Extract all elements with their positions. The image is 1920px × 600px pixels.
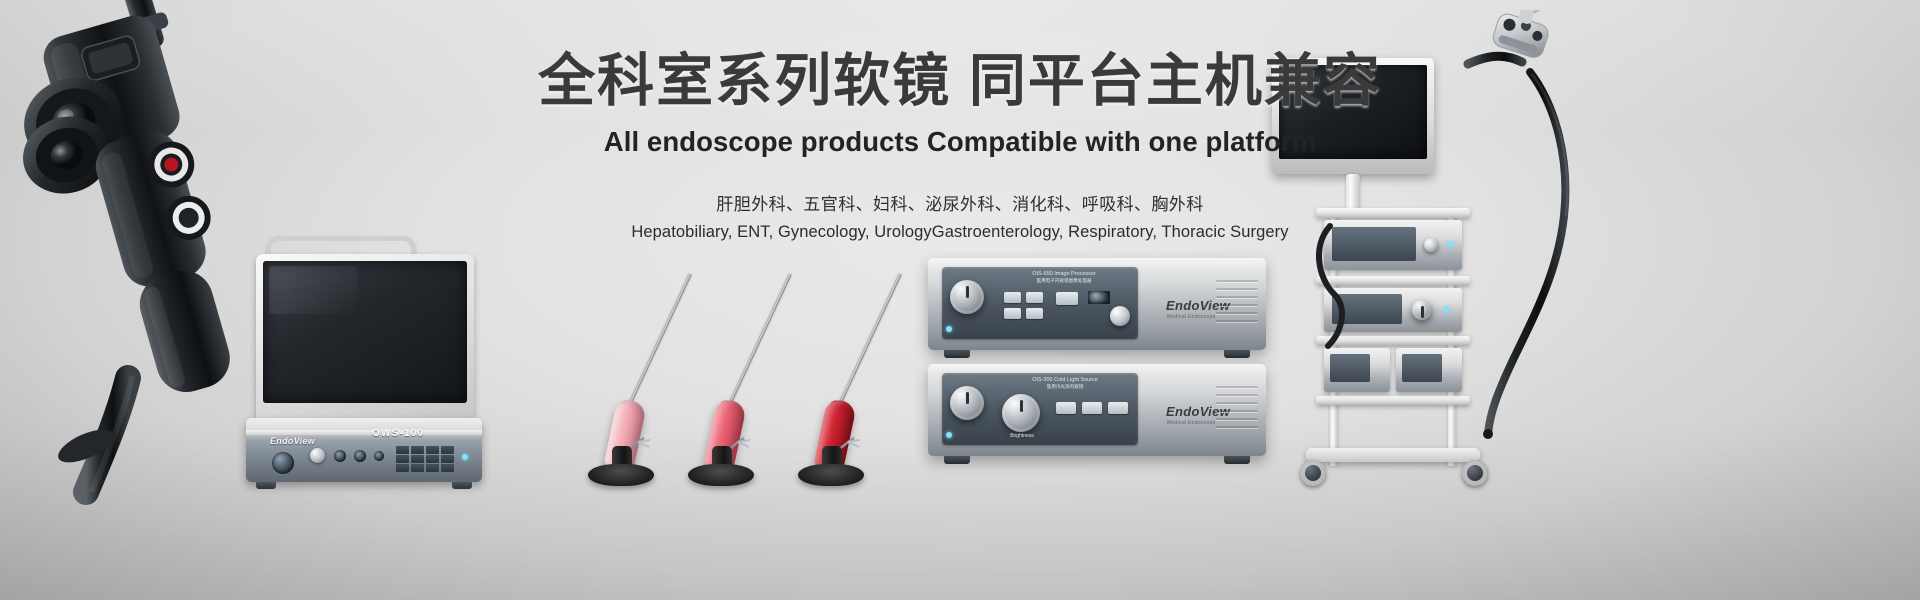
unit-knob-label: Brightness [1000,433,1044,439]
workstation-port-1 [334,450,346,462]
unit-foot-right [1224,350,1250,358]
unit-button-menu[interactable] [1004,292,1021,303]
workstation-port-3 [374,451,384,461]
cart-device-brightness-knob[interactable] [1412,300,1432,320]
unit-brand-sublabel: Medical Endoscope [1167,420,1216,426]
unit-front-face: OIS-650 Image Processor 医用电子内窥镜图像处理器 End… [928,258,1266,350]
unit-panel-title-zh: 医用电子内窥镜图像处理器 [998,278,1130,285]
banner-subheadline-en: All endoscope products Compatible with o… [0,126,1920,158]
banner-departments-zh: 肝胆外科、五官科、妇科、泌尿外科、消化科、呼吸科、胸外科 [0,190,1920,215]
banner-departments-en: Hepatobiliary, ENT, Gynecology, UrologyG… [0,223,1920,242]
banner-root: EndoView OWS-100 [0,0,1920,600]
unit-panel-title: OIS-650 Image Processor 医用电子内窥镜图像处理器 [998,270,1130,285]
cart-device-insufflator [1324,348,1390,392]
workstation-display-screen [263,261,467,403]
banner-text-block: 全科室系列软镜 同平台主机兼容 All endoscope products C… [0,48,1920,242]
endoview-cold-light-source-unit: OIS-300 Cold Light Source 医用冷光源内窥镜 Brigh… [928,364,1266,456]
unit-panel-title-en: OIS-650 Image Processor [1032,271,1096,277]
scope-stand-base [798,464,864,486]
unit-button-manual[interactable] [1082,402,1102,414]
cart-device-panel [1330,354,1370,382]
unit-status-led [946,326,952,332]
unit-panel-title-en: OIS-300 Cold Light Source [1032,377,1098,383]
unit-adjust-knob[interactable] [1110,306,1130,326]
endoview-image-processor-unit: OIS-650 Image Processor 医用电子内窥镜图像处理器 End… [928,258,1266,350]
base-trim-strip [246,430,482,435]
cart-base-plate [1306,448,1480,462]
unit-button-freeze[interactable] [1056,292,1078,305]
unit-button-pump[interactable] [1108,402,1128,414]
unit-button-auto[interactable] [1056,402,1076,414]
flexible-scope-red [710,250,890,495]
unit-panel-title-zh: 医用冷光源内窥镜 [1000,384,1130,391]
workstation-brand-label: EndoView [270,436,315,446]
workstation-base: EndoView [246,418,482,482]
unit-vent-grille [1216,384,1258,436]
workstation-scope-connector [272,452,294,474]
unit-vent-grille [1216,278,1258,330]
unit-scope-connector[interactable] [950,280,984,314]
workstation-feet [246,482,482,489]
unit-light-output-port[interactable] [950,386,984,420]
unit-foot-right [1224,456,1250,464]
unit-button-wb[interactable] [1026,292,1043,303]
ows-100-workstation: EndoView OWS-100 [232,236,482,488]
unit-foot-left [944,350,970,358]
unit-brand-sublabel: Medical Endoscope [1167,314,1216,320]
unit-front-face: OIS-300 Cold Light Source 医用冷光源内窥镜 Brigh… [928,364,1266,456]
workstation-power-led [462,454,468,460]
workstation-knob-1 [310,448,325,463]
unit-panel-title: OIS-300 Cold Light Source 医用冷光源内窥镜 [1000,376,1130,391]
workstation-display-shell [256,254,474,422]
cart-wheel-left [1300,460,1326,486]
unit-brightness-knob[interactable] [1002,394,1040,432]
unit-button-aux[interactable] [1026,308,1043,319]
unit-status-led [946,432,952,438]
workstation-port-2 [354,450,366,462]
workstation-model-label: OWS-100 [372,428,424,439]
unit-button-rec[interactable] [1004,308,1021,319]
banner-headline-zh: 全科室系列软镜 同平台主机兼容 [0,48,1920,115]
unit-usb-port [1088,291,1110,304]
cart-wheel-right [1462,460,1488,486]
cart-device-panel [1402,354,1442,382]
workstation-keypad[interactable] [396,446,454,472]
unit-foot-left [944,456,970,464]
